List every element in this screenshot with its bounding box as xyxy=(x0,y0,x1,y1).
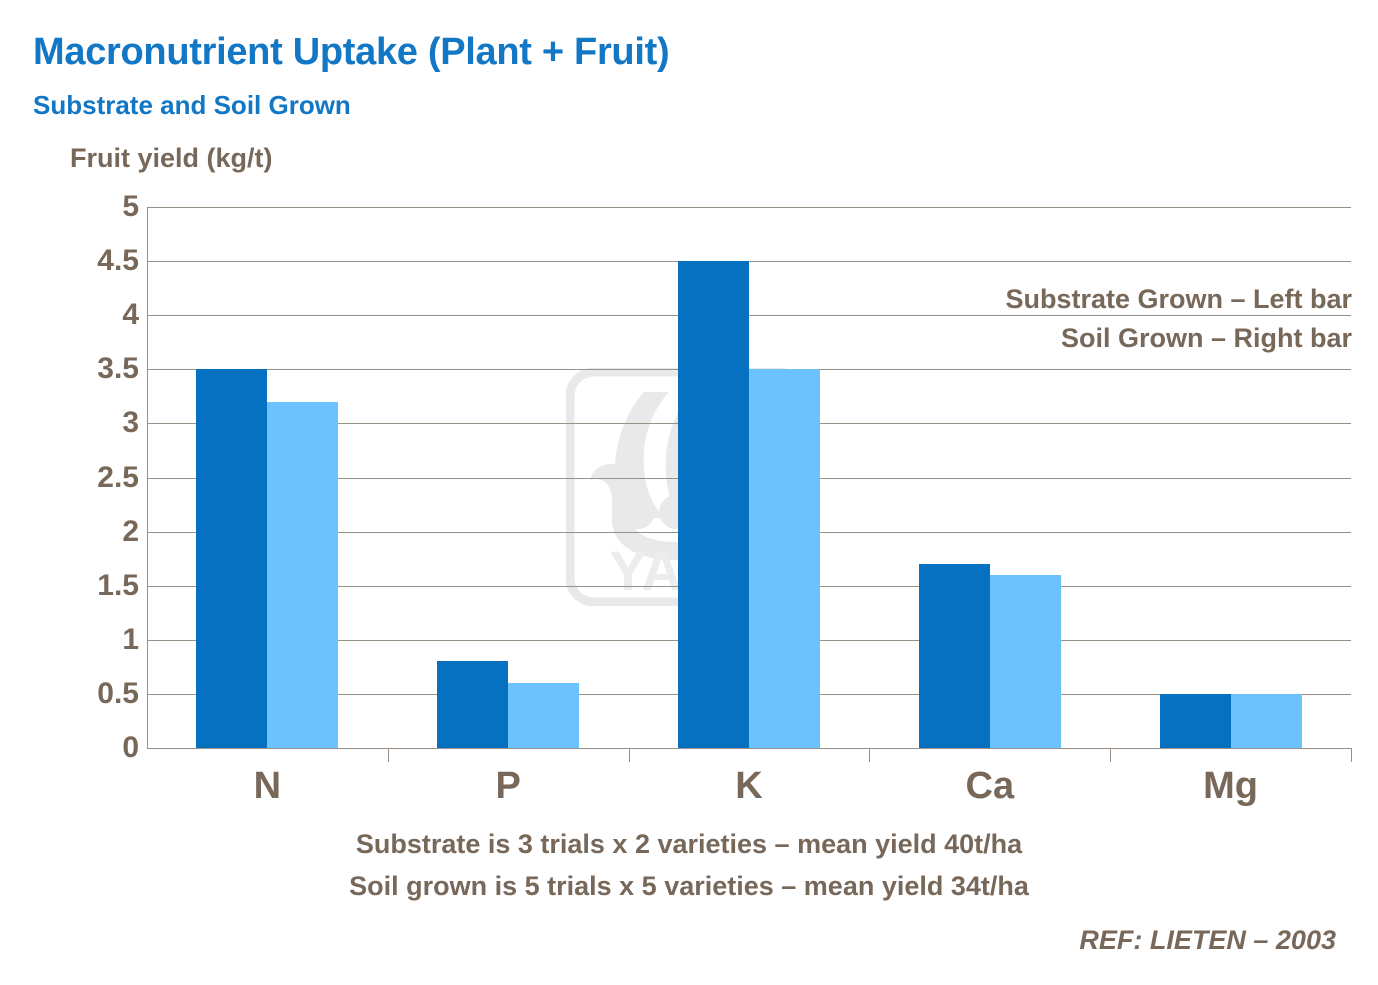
y-axis-tick-label: 2 xyxy=(59,517,139,547)
x-axis-tick xyxy=(1351,748,1352,762)
y-axis-tick-label: 0.5 xyxy=(59,679,139,709)
y-axis-tick-label: 2.5 xyxy=(59,463,139,493)
gridline xyxy=(147,261,1351,262)
bar-soil-grown xyxy=(1231,694,1302,748)
bar-substrate-grown xyxy=(437,661,508,748)
x-axis-category-label: K xyxy=(669,766,829,808)
y-axis-tick-labels: 00.511.522.533.544.55 xyxy=(55,207,139,748)
gridline xyxy=(147,207,1351,208)
legend-item-substrate: Substrate Grown – Left bar xyxy=(1005,280,1352,319)
bar-soil-grown xyxy=(749,369,820,748)
legend-item-soil: Soil Grown – Right bar xyxy=(1005,319,1352,358)
footnotes: Substrate is 3 trials x 2 varieties – me… xyxy=(0,824,1378,908)
footnote-substrate: Substrate is 3 trials x 2 varieties – me… xyxy=(0,824,1378,866)
y-axis-tick-label: 1 xyxy=(59,625,139,655)
y-axis-tick-label: 5 xyxy=(59,192,139,222)
y-axis-tick-label: 0 xyxy=(59,733,139,763)
bar-substrate-grown xyxy=(1160,694,1231,748)
x-axis-tick xyxy=(1110,748,1111,762)
x-axis-category-label: Ca xyxy=(910,766,1070,808)
y-axis-tick-label: 3 xyxy=(59,408,139,438)
bar-substrate-grown xyxy=(678,261,749,748)
legend: Substrate Grown – Left bar Soil Grown – … xyxy=(1005,280,1352,358)
x-axis-tick xyxy=(388,748,389,762)
bar-soil-grown xyxy=(990,575,1061,748)
y-axis-line xyxy=(147,207,148,749)
bar-soil-grown xyxy=(508,683,579,748)
page-title: Macronutrient Uptake (Plant + Fruit) xyxy=(33,31,669,74)
y-axis-tick-label: 4 xyxy=(59,300,139,330)
reference-citation: REF: LIETEN – 2003 xyxy=(1079,925,1336,956)
x-axis-category-label: Mg xyxy=(1151,766,1311,808)
x-axis-category-label: N xyxy=(187,766,347,808)
x-axis-category-label: P xyxy=(428,766,588,808)
footnote-soil: Soil grown is 5 trials x 5 varieties – m… xyxy=(0,866,1378,908)
page-subtitle: Substrate and Soil Grown xyxy=(33,90,351,121)
bar-substrate-grown xyxy=(196,369,267,748)
x-axis-tick xyxy=(629,748,630,762)
bar-soil-grown xyxy=(267,402,338,748)
y-axis-title: Fruit yield (kg/t) xyxy=(70,143,273,174)
y-axis-tick-label: 1.5 xyxy=(59,571,139,601)
y-axis-tick-label: 4.5 xyxy=(59,246,139,276)
bar-substrate-grown xyxy=(919,564,990,748)
x-axis-line xyxy=(147,748,1352,749)
y-axis-tick-label: 3.5 xyxy=(59,354,139,384)
x-axis-tick xyxy=(869,748,870,762)
